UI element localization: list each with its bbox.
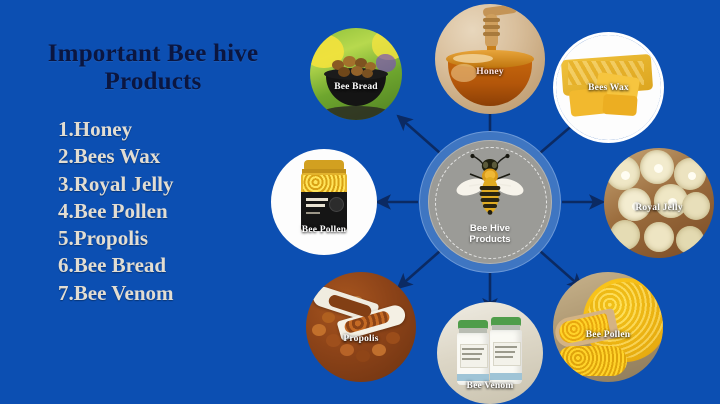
radial-hub-diagram: Bee Hive Products (255, 0, 720, 404)
node-bee-pollen-right[interactable]: Bee Pollen (553, 272, 663, 382)
page-title: Important Bee hive Products (18, 40, 288, 96)
slide-canvas: Important Bee hive Products 1.Honey 2.Be… (0, 0, 720, 404)
arrow-bee-bread (398, 116, 440, 153)
honey-image (435, 4, 545, 114)
list-item: 3.Royal Jelly (58, 171, 288, 198)
bee-pollen-left-image (271, 149, 377, 255)
bee-pollen-right-image (553, 272, 663, 382)
hub-center[interactable]: Bee Hive Products (420, 132, 560, 272)
node-propolis[interactable]: Propolis (306, 272, 416, 382)
node-royal-jelly[interactable]: Royal Jelly (604, 148, 714, 258)
list-item: 7.Bee Venom (58, 280, 288, 307)
node-bee-pollen-left[interactable]: Bee Pollen (271, 149, 377, 255)
propolis-image (306, 272, 416, 382)
royal-jelly-image (604, 148, 714, 258)
hub-label: Bee Hive Products (428, 224, 552, 246)
list-item: 4.Bee Pollen (58, 198, 288, 225)
page-title-line-1: Important Bee hive (18, 40, 288, 68)
node-bees-wax[interactable]: Bees Wax (553, 32, 664, 143)
list-item: 5.Propolis (58, 225, 288, 252)
product-list: 1.Honey 2.Bees Wax 3.Royal Jelly 4.Bee P… (58, 116, 288, 307)
hub-label-line-2: Products (428, 235, 552, 246)
list-item: 1.Honey (58, 116, 288, 143)
bees-wax-image (556, 35, 661, 140)
node-honey[interactable]: Honey (435, 4, 545, 114)
hub-disc: Bee Hive Products (428, 140, 552, 264)
list-item: 6.Bee Bread (58, 252, 288, 279)
bee-venom-image (437, 302, 543, 404)
honeybee-icon (455, 153, 525, 215)
page-title-line-2: Products (18, 68, 288, 96)
bee-bread-image (310, 28, 402, 120)
node-bee-bread[interactable]: Bee Bread (310, 28, 402, 120)
list-item: 2.Bees Wax (58, 143, 288, 170)
node-bee-venom[interactable]: Bee Venom (437, 302, 543, 404)
